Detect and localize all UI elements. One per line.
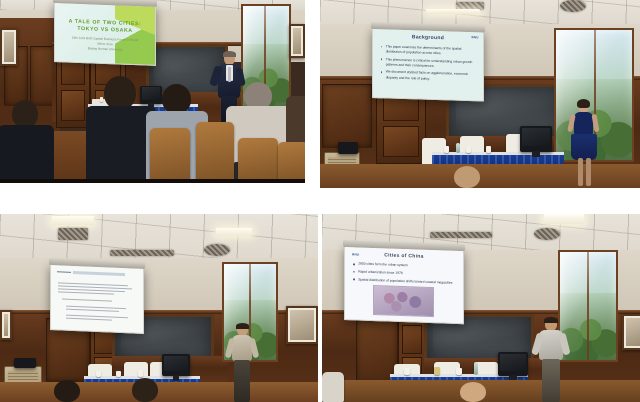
audience-head-br <box>460 382 486 402</box>
audience-head-bl-1 <box>54 380 80 402</box>
audience-head-3 <box>162 84 191 114</box>
slide-bullet: We document stylized facts on agglomerat… <box>381 70 477 83</box>
table-cup-3c <box>138 370 143 377</box>
framed-picture-3b <box>0 310 12 340</box>
audience-member-bl-2 <box>126 378 170 402</box>
slide-top-right: BNU Background This paper examines the d… <box>373 29 483 100</box>
ceiling-vent-3c <box>110 250 174 256</box>
collage-panel-top-right[interactable]: BNU Background This paper examines the d… <box>320 0 640 188</box>
slide-bullet: This paper examines the determinants of … <box>381 44 477 57</box>
table-cup-3a <box>96 371 101 377</box>
table-cup-2a <box>444 146 449 153</box>
projection-screen-3 <box>50 264 144 334</box>
presenter-legs-3 <box>234 360 250 402</box>
picture-art <box>4 32 14 62</box>
audience-member-1 <box>0 100 54 183</box>
presenter-skirt-2 <box>571 134 597 160</box>
presenter-top-right <box>570 100 598 188</box>
chair-2[interactable] <box>196 122 234 183</box>
audience-member-top-right <box>448 166 486 188</box>
table-bottle-2 <box>456 143 460 153</box>
projection-screen-2: BNU Background This paper examines the d… <box>372 28 484 102</box>
presenter-hair-2 <box>577 99 590 108</box>
ceiling-vent-round-2 <box>560 0 586 12</box>
table-bottle-4 <box>474 362 478 375</box>
slide-title-2: Background <box>373 33 483 42</box>
table-cup-4b <box>434 367 440 375</box>
slide-bottom-left <box>51 265 143 333</box>
chair-4[interactable] <box>278 142 305 183</box>
picture-art-4 <box>626 318 640 346</box>
ceiling-light-2 <box>426 9 480 14</box>
chair-br-left[interactable] <box>322 372 344 402</box>
table-cup-2b <box>466 147 471 153</box>
presenter-hair-4 <box>544 317 558 323</box>
picture-art-right <box>293 28 301 54</box>
monitor-4 <box>498 352 528 376</box>
monitor-screen-2 <box>522 128 550 146</box>
picture-art-3b <box>4 314 8 336</box>
table-cup-3b <box>116 371 121 377</box>
projection-screen: A TALE OF TWO CITIES: TOKYO VS OSAKA 18t… <box>54 2 156 66</box>
photo-bottom-edge <box>0 179 305 183</box>
table-cup-4c <box>456 368 462 375</box>
seminar-room-scene-4: BNU Cities of China 2800 cities form the… <box>322 214 640 402</box>
ceiling-vent-3a <box>58 228 88 240</box>
collage-panel-top-left[interactable]: A TALE OF TWO CITIES: TOKYO VS OSAKA 18t… <box>0 0 305 183</box>
picture-art-3 <box>290 310 314 340</box>
monitor-screen-4 <box>500 354 526 371</box>
collage-panel-bottom-left[interactable] <box>0 214 318 402</box>
slide-top-left: A TALE OF TWO CITIES: TOKYO VS OSAKA 18t… <box>55 3 155 65</box>
slide-bottom-right: BNU Cities of China 2800 cities form the… <box>345 247 463 323</box>
slide-bullets-2: This paper examines the determinants of … <box>381 44 477 85</box>
framed-picture-right <box>289 24 305 58</box>
presenter-legs-4 <box>542 359 560 402</box>
presenter-bottom-left <box>228 324 256 402</box>
presenter-hair <box>223 51 236 57</box>
ceiling-light-3a <box>52 216 94 225</box>
chair-1[interactable] <box>150 128 190 183</box>
chair-3[interactable] <box>238 138 278 183</box>
presenter-legs-2b <box>586 158 591 186</box>
ceiling-light-3b <box>216 228 252 236</box>
table-cup-4a <box>404 368 410 375</box>
monitor-2 <box>520 126 552 152</box>
monitor-stand-3 <box>173 375 180 381</box>
ceiling-light-4 <box>544 214 584 224</box>
audience-head-2 <box>104 76 136 110</box>
presenter-legs-2 <box>578 158 583 186</box>
seminar-room-scene-2: BNU Background This paper examines the d… <box>320 0 640 188</box>
projector-box-3 <box>14 358 36 368</box>
ceiling-vent-4 <box>534 228 560 240</box>
ceiling-vent-3b <box>204 244 230 256</box>
slide-title-4: Cities of China <box>345 251 463 261</box>
presenter-bottom-right <box>534 318 568 402</box>
slide-map-figure <box>373 285 434 316</box>
slide-bullet: Spatial distribution of population shift… <box>353 277 456 286</box>
collage-panel-bottom-right[interactable]: BNU Cities of China 2800 cities form the… <box>322 214 640 402</box>
presenter-tie <box>228 67 231 82</box>
framed-picture-left <box>0 28 18 66</box>
seminar-room-scene-3 <box>0 214 318 402</box>
presenter-dress-2 <box>574 112 593 136</box>
audience-head-1 <box>12 100 38 128</box>
audience-torso-1 <box>0 125 54 183</box>
monitor-stand-2 <box>532 151 540 157</box>
framed-picture-3 <box>286 306 318 344</box>
wall-panel-2-a <box>322 84 372 148</box>
projection-screen-4: BNU Cities of China 2800 cities form the… <box>344 246 464 324</box>
projector-box-2 <box>338 142 358 154</box>
slide-bullet: This phenomenon is critical for understa… <box>381 57 477 70</box>
ceiling-vent-4b <box>430 232 492 238</box>
seminar-room-scene: A TALE OF TWO CITIES: TOKYO VS OSAKA 18t… <box>0 0 305 183</box>
window-glare-4 <box>560 252 616 360</box>
audience-head-tr <box>454 166 480 188</box>
audience-member-br <box>454 382 494 402</box>
photo-collage: A TALE OF TWO CITIES: TOKYO VS OSAKA 18t… <box>0 0 640 402</box>
audience-head-bl-2 <box>132 378 158 402</box>
monitor-screen-3 <box>164 356 188 371</box>
monitor-3 <box>162 354 190 376</box>
slide-bullets-4: 2800 cities form the urban system Rapid … <box>353 262 456 288</box>
table-cup-2c <box>486 146 491 153</box>
framed-picture-4 <box>622 314 640 350</box>
audience-member-bl-1 <box>48 380 94 402</box>
presenter-hair-3 <box>236 323 249 329</box>
